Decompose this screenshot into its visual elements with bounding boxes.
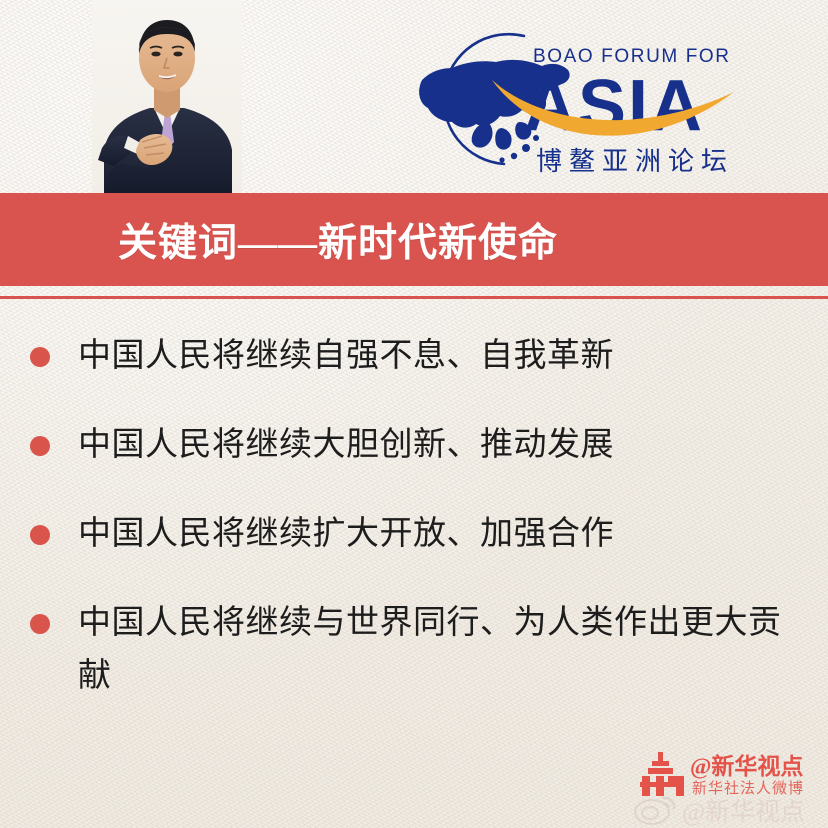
list-item: 中国人民将继续自强不息、自我革新 [0, 330, 828, 383]
speaker-portrait [92, 0, 242, 193]
weibo-watermark: @新华视点 [630, 792, 812, 826]
banner-divider-rule [0, 296, 828, 299]
list-item-text: 中国人民将继续大胆创新、推动发展 [78, 419, 804, 472]
title-banner: 关键词——新时代新使命 [0, 193, 828, 286]
list-item-text: 中国人民将继续自强不息、自我革新 [78, 330, 804, 383]
poster-canvas: BOAO FORUM FOR ASIA 博鳌亚洲论坛 关键词——新时代新使命 中… [0, 0, 828, 828]
bullet-dot-icon [30, 614, 50, 634]
list-item: 中国人民将继续与世界同行、为人类作出更大贡献 [0, 597, 828, 703]
bullet-dot-icon [30, 347, 50, 367]
bullet-dot-icon [30, 525, 50, 545]
xinhua-logo-icon [640, 752, 684, 796]
logo-chinese-text: 博鳌亚洲论坛 [536, 147, 734, 176]
list-item: 中国人民将继续大胆创新、推动发展 [0, 419, 828, 472]
logo-english-top-text: BOAO FORUM FOR [533, 46, 731, 67]
weibo-icon [635, 798, 674, 824]
list-item-text: 中国人民将继续与世界同行、为人类作出更大贡献 [78, 597, 804, 703]
weibo-handle-text: @新华视点 [682, 798, 805, 826]
list-item-text: 中国人民将继续扩大开放、加强合作 [78, 508, 804, 561]
page-title: 关键词——新时代新使命 [118, 212, 558, 268]
poster-header: BOAO FORUM FOR ASIA 博鳌亚洲论坛 [0, 0, 828, 193]
boao-forum-for-asia-logo: BOAO FORUM FOR ASIA 博鳌亚洲论坛 [396, 18, 736, 184]
keyword-bullet-list: 中国人民将继续自强不息、自我革新 中国人民将继续大胆创新、推动发展 中国人民将继… [0, 330, 828, 739]
xinhua-handle-text: @新华视点 [690, 753, 803, 780]
bullet-dot-icon [30, 436, 50, 456]
list-item: 中国人民将继续扩大开放、加强合作 [0, 508, 828, 561]
